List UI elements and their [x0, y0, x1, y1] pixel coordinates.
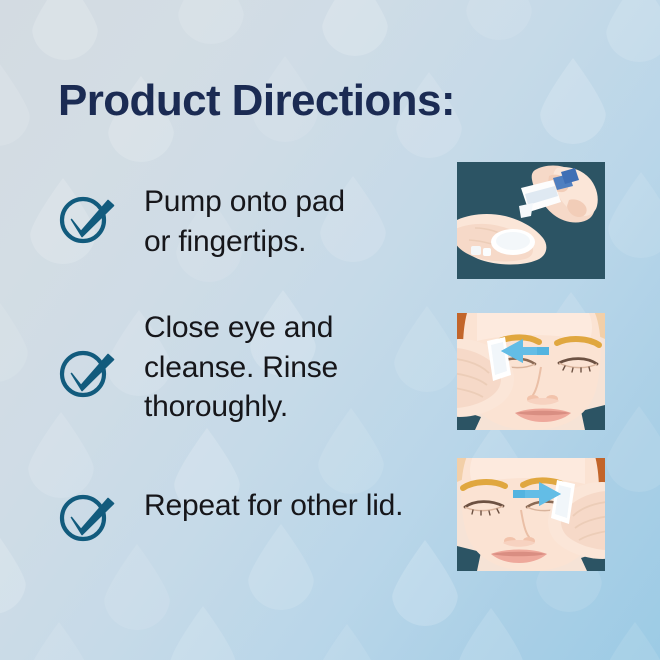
droplet-icon [104, 544, 170, 630]
direction-step: Pump onto pad or fingertips. [58, 182, 345, 261]
direction-step-text: Close eye and cleanse. Rinse thoroughly. [144, 308, 338, 427]
droplet-icon [0, 60, 30, 146]
product-directions-poster: Product Directions: Pump onto pad or fin… [0, 0, 660, 660]
check-circle-icon [58, 344, 116, 400]
step-3-illustration [457, 458, 605, 571]
droplet-icon [392, 540, 458, 626]
step-2-illustration [457, 313, 605, 430]
droplet-icon [0, 528, 26, 614]
droplet-icon [314, 624, 380, 660]
droplet-icon [394, 306, 460, 392]
droplet-icon [608, 172, 660, 258]
droplet-icon [170, 606, 236, 660]
droplet-icon [602, 622, 660, 660]
droplet-icon [606, 406, 660, 492]
direction-step-text: Pump onto pad or fingertips. [144, 182, 345, 261]
direction-step: Repeat for other lid. [58, 486, 403, 544]
page-title: Product Directions: [58, 78, 455, 124]
step-1-illustration [457, 162, 605, 279]
direction-step: Close eye and cleanse. Rinse thoroughly. [58, 308, 338, 427]
droplet-icon [0, 296, 28, 382]
direction-step-text: Repeat for other lid. [144, 486, 403, 526]
droplet-icon [322, 0, 388, 56]
droplet-icon [606, 0, 660, 62]
droplet-icon [32, 0, 98, 60]
droplet-icon [466, 0, 532, 40]
droplet-icon [26, 622, 92, 660]
check-circle-icon [58, 190, 116, 246]
check-circle-icon [58, 488, 116, 544]
droplet-icon [178, 0, 244, 44]
droplet-icon [458, 608, 524, 660]
droplet-icon [540, 58, 606, 144]
